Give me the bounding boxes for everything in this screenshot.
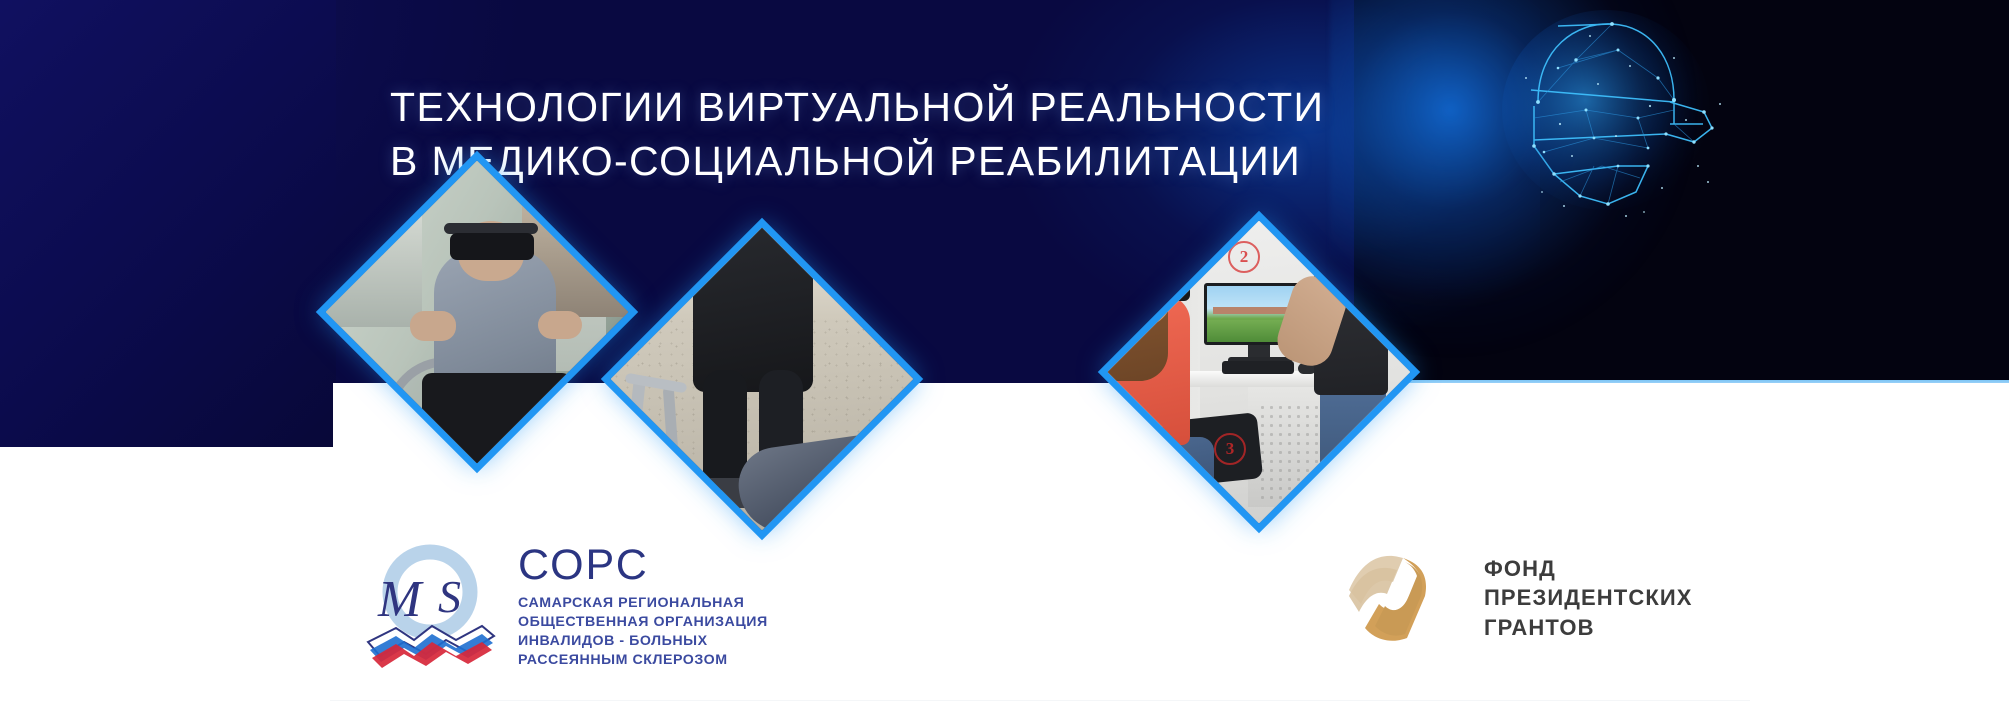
presidential-grants-fund-mark-icon xyxy=(1345,548,1460,648)
vr-headset xyxy=(450,233,534,260)
patient-hand-right xyxy=(538,311,582,339)
callout-marker-3: 3 xyxy=(1214,433,1246,465)
presidential-grants-fund-text: ФОНД ПРЕЗИДЕНТСКИХ ГРАНТОВ xyxy=(1484,554,1693,642)
bottom-divider xyxy=(330,700,1750,701)
keyboard xyxy=(1222,361,1294,374)
svg-text:S: S xyxy=(438,571,461,622)
callout-marker-2: 2 xyxy=(1228,241,1260,273)
vr-headset-wireframe-icon xyxy=(1498,6,1748,226)
sors-logo: M S СОРС САМАРСКАЯ РЕГИОНАЛЬНАЯ ОБЩЕСТВЕ… xyxy=(360,542,768,670)
title-line-2: В МЕДИКО-СОЦИАЛЬНОЙ РЕАБИЛИТАЦИИ xyxy=(390,134,1470,188)
sors-full-name: САМАРСКАЯ РЕГИОНАЛЬНАЯ ОБЩЕСТВЕННАЯ ОРГА… xyxy=(518,594,768,670)
white-panel-lower xyxy=(0,447,2009,719)
background-navy-left-edge xyxy=(0,0,336,450)
patient-hand-left xyxy=(410,311,456,341)
sors-text-block: СОРС САМАРСКАЯ РЕГИОНАЛЬНАЯ ОБЩЕСТВЕННАЯ… xyxy=(518,542,768,670)
title-line-1: ТЕХНОЛОГИИ ВИРТУАЛЬНОЙ РЕАЛЬНОСТИ xyxy=(390,84,1324,130)
vr-rehabilitation-banner: ТЕХНОЛОГИИ ВИРТУАЛЬНОЙ РЕАЛЬНОСТИ В МЕДИ… xyxy=(0,0,2009,719)
presidential-grants-fund-logo: ФОНД ПРЕЗИДЕНТСКИХ ГРАНТОВ xyxy=(1345,548,1693,648)
ms-emblem-icon: M S xyxy=(360,542,500,670)
sors-abbreviation: СОРС xyxy=(518,544,768,587)
banner-title: ТЕХНОЛОГИИ ВИРТУАЛЬНОЙ РЕАЛЬНОСТИ В МЕДИ… xyxy=(390,26,1470,242)
svg-text:M: M xyxy=(377,571,424,628)
